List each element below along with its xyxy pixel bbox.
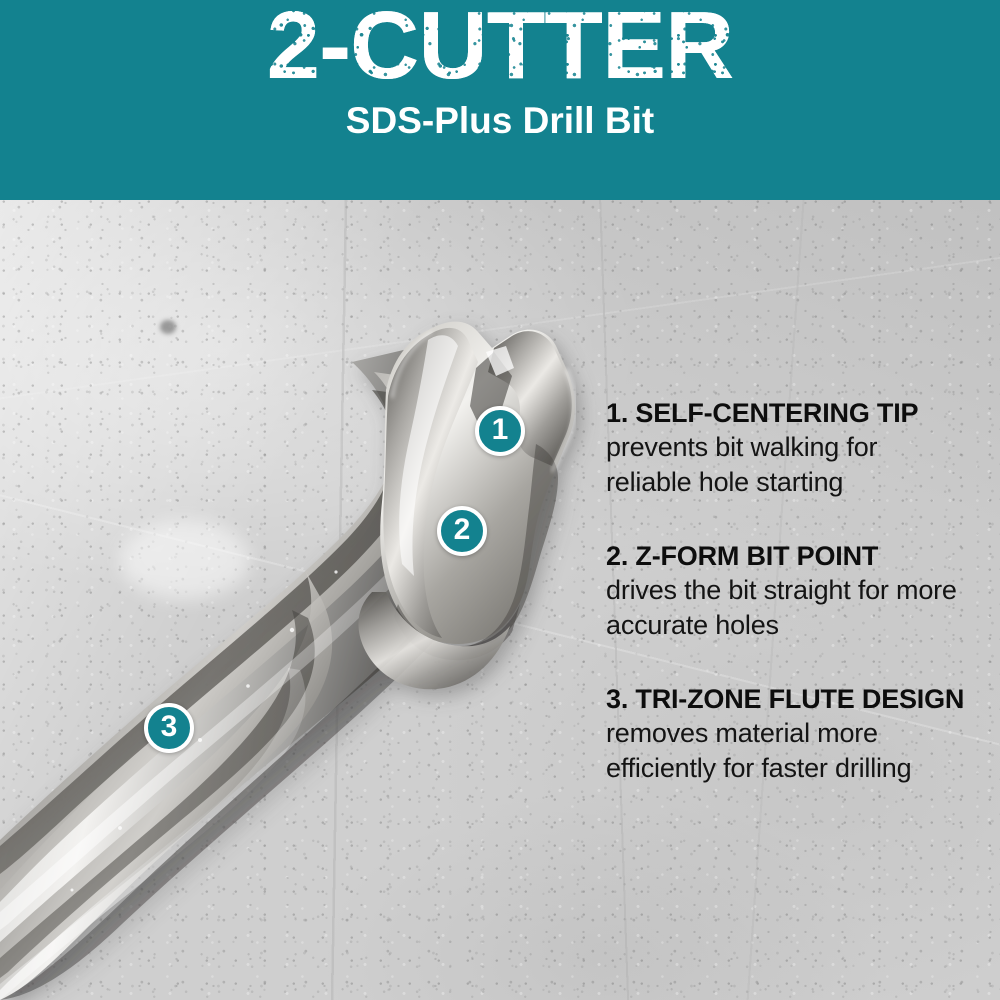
page-subtitle: SDS-Plus Drill Bit — [346, 100, 654, 142]
feature-title-3: 3. TRI-ZONE FLUTE DESIGN — [606, 682, 966, 716]
callout-badge-2-number: 2 — [454, 515, 471, 545]
header-banner: 2-CUTTER SDS-Plus Drill Bit — [0, 0, 1000, 200]
feature-item-3: 3. TRI-ZONE FLUTE DESIGN removes materia… — [606, 682, 966, 785]
feature-description-1: prevents bit walking for reliable hole s… — [606, 430, 966, 499]
feature-title-1: 1. SELF-CENTERING TIP — [606, 396, 966, 430]
feature-item-1: 1. SELF-CENTERING TIP prevents bit walki… — [606, 396, 966, 499]
feature-list: 1. SELF-CENTERING TIP prevents bit walki… — [606, 396, 966, 785]
feature-description-3: removes material more efficiently for fa… — [606, 716, 966, 785]
callout-badge-3[interactable]: 3 — [144, 703, 194, 753]
feature-item-2: 2. Z-FORM BIT POINT drives the bit strai… — [606, 539, 966, 642]
callout-badge-2[interactable]: 2 — [437, 506, 487, 556]
product-infographic: 2-CUTTER SDS-Plus Drill Bit 1 2 3 1. SEL… — [0, 0, 1000, 1000]
feature-description-2: drives the bit straight for more accurat… — [606, 573, 966, 642]
callout-badge-3-number: 3 — [161, 712, 178, 742]
callout-badge-1[interactable]: 1 — [475, 406, 525, 456]
feature-title-2: 2. Z-FORM BIT POINT — [606, 539, 966, 573]
page-title: 2-CUTTER — [267, 0, 734, 99]
callout-badge-1-number: 1 — [492, 415, 509, 445]
title-wrapper: 2-CUTTER — [267, 0, 734, 92]
